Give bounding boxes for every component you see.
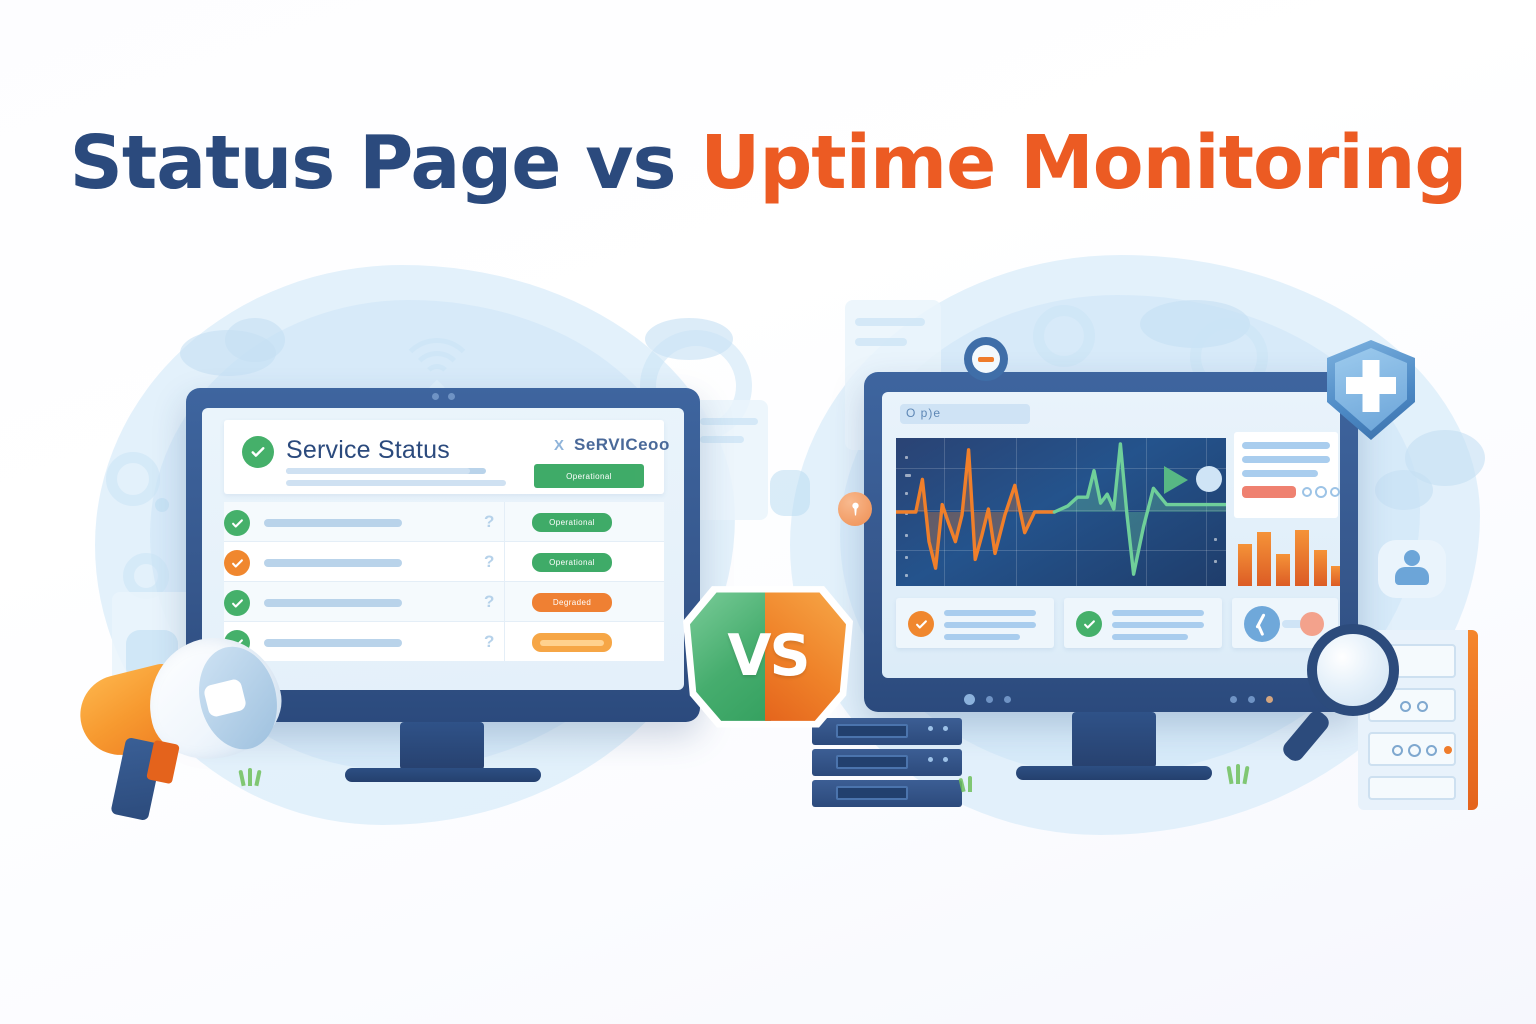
gear-decor-2: [1033, 305, 1095, 367]
camera-dot-right-5: [1248, 696, 1255, 703]
url-bar-seg-2: [988, 406, 1002, 421]
uptime-monitoring-monitor[interactable]: O p)e: [864, 372, 1358, 712]
illustration-canvas: Status Page vs Uptime Monitoring Service…: [0, 0, 1536, 1024]
user-head: [1404, 550, 1420, 566]
camera-dot-left-1: [432, 393, 439, 400]
alarm-hand: [978, 357, 994, 362]
server-led: [928, 726, 933, 731]
row-marker-3: ?: [484, 592, 494, 612]
row-status-icon-3: [224, 590, 250, 616]
rack-slot-4: [1368, 776, 1456, 800]
rack-indicator: [1417, 701, 1428, 712]
row-marker-1: ?: [484, 512, 494, 532]
cloud-decor-6: [1375, 470, 1433, 510]
row-badge-4[interactable]: [532, 633, 612, 652]
summary-ring-2: [1315, 486, 1327, 498]
grass-decor: [1236, 764, 1240, 784]
row-label-1: [264, 519, 402, 527]
camera-dot-right-1: [964, 694, 975, 705]
uptime-dashboard-screen[interactable]: O p)e: [882, 392, 1340, 678]
camera-dot-right-2: [986, 696, 993, 703]
bar-chart-bar: [1276, 554, 1290, 586]
server-slot: [836, 786, 908, 800]
monitor-stand-base-right: [1016, 766, 1212, 780]
server-unit: [812, 780, 962, 807]
row-marker-4: ?: [484, 632, 494, 652]
brand-logo-text: SeRVICeoo: [574, 435, 670, 455]
camera-dot-left-2: [448, 393, 455, 400]
camera-dot-right-3: [1004, 696, 1011, 703]
page-title: Status Page vs Uptime Monitoring: [0, 120, 1536, 206]
grass-decor: [248, 768, 252, 786]
bar-chart-bar: [1238, 544, 1252, 586]
grass-decor: [968, 776, 972, 792]
alarm-clock-icon: [964, 337, 1008, 381]
row-status-icon-1: [224, 510, 250, 536]
title-part-left: Status Page vs: [70, 120, 701, 206]
gear-decor-4: [106, 452, 160, 506]
status-card-line-1: [1112, 610, 1204, 616]
header-line-2: [286, 468, 470, 474]
monitor-stand-neck-left: [400, 722, 484, 770]
dot-marker-icon: [1196, 466, 1222, 492]
row-status-icon-2: [224, 550, 250, 576]
side-summary-panel: [1234, 432, 1338, 518]
user-body: [1395, 567, 1429, 585]
bar-chart-bar: [1257, 532, 1271, 586]
row-marker-2: ?: [484, 552, 494, 572]
url-bar-seg-1: [964, 406, 984, 421]
summary-line-3: [1242, 470, 1318, 477]
url-text: O p)e: [906, 406, 941, 420]
user-badge-icon: [1378, 540, 1446, 598]
header-line-3: [286, 480, 506, 486]
server-slot: [836, 755, 908, 769]
play-marker-icon: [1164, 466, 1188, 494]
chart-series-svg: [896, 438, 1226, 586]
server-led: [928, 757, 933, 762]
summary-line-2: [1242, 456, 1330, 463]
title-part-right: Uptime Monitoring: [700, 120, 1466, 206]
background-bar-4: [855, 338, 907, 346]
vs-label: VS: [683, 580, 853, 732]
megaphone-icon: [58, 630, 328, 815]
gauge-icon: [1244, 606, 1280, 642]
header-status-badge[interactable]: Operational: [534, 464, 644, 488]
row-badge-1[interactable]: Operational: [532, 513, 612, 532]
row-label-3: [264, 599, 402, 607]
server-led: [943, 757, 948, 762]
status-card-line-2: [944, 622, 1036, 628]
bar-chart-bar: [1314, 550, 1327, 586]
status-page-heading: Service Status: [286, 436, 450, 465]
magnifier-lens: [1307, 624, 1399, 716]
background-bar-1: [700, 418, 758, 425]
rack-indicator: [1426, 745, 1437, 756]
bar-chart-bar: [1331, 566, 1340, 586]
vs-badge: VS: [683, 580, 853, 732]
check-circle-green-icon: [1076, 611, 1102, 637]
status-card-line-1: [944, 610, 1036, 616]
server-led: [943, 726, 948, 731]
url-bar-seg-3: [1006, 406, 1030, 421]
status-card-line-3: [1112, 634, 1188, 640]
camera-dot-right-6: [1266, 696, 1273, 703]
row-badge-4-fill: [540, 640, 604, 646]
gauge-needle-2: [1257, 624, 1265, 636]
dot-decor-1: [155, 498, 169, 512]
square-decor-2: [770, 470, 810, 516]
status-card-warning[interactable]: [896, 598, 1054, 648]
status-card-ok[interactable]: [1064, 598, 1222, 648]
magnifier-icon: [1293, 620, 1413, 760]
bar-chart-bar: [1295, 530, 1309, 586]
monitor-stand-neck-right: [1072, 712, 1156, 768]
uptime-chart[interactable]: [896, 438, 1226, 586]
background-bar-2: [700, 436, 744, 443]
status-header-card: Service Status X SeRVICeoo Operational: [224, 420, 664, 494]
shield-cross-icon: [1327, 340, 1415, 440]
summary-highlight-bar: [1242, 486, 1296, 498]
wifi-icon: [394, 338, 480, 394]
row-label-2: [264, 559, 402, 567]
status-card-line-3: [944, 634, 1020, 640]
server-unit: [812, 749, 962, 776]
rack-led: [1444, 746, 1452, 754]
check-circle-orange-icon: [908, 611, 934, 637]
check-circle-green-icon: [242, 436, 274, 468]
lock-circle-icon: [838, 492, 872, 526]
column-divider: [504, 502, 505, 661]
summary-ring-1: [1302, 487, 1312, 497]
background-bar-3: [855, 318, 925, 326]
row-badge-2[interactable]: Operational: [532, 553, 612, 572]
cloud-decor-2: [225, 318, 285, 362]
summary-line-1: [1242, 442, 1330, 449]
summary-ring-3: [1330, 487, 1340, 497]
row-badge-3[interactable]: Degraded: [532, 593, 612, 612]
camera-dot-right-4: [1230, 696, 1237, 703]
monitor-stand-base-left: [345, 768, 541, 782]
status-card-line-2: [1112, 622, 1204, 628]
shield-cross-horizontal: [1346, 377, 1396, 394]
logo-x-mark: X: [554, 437, 564, 454]
